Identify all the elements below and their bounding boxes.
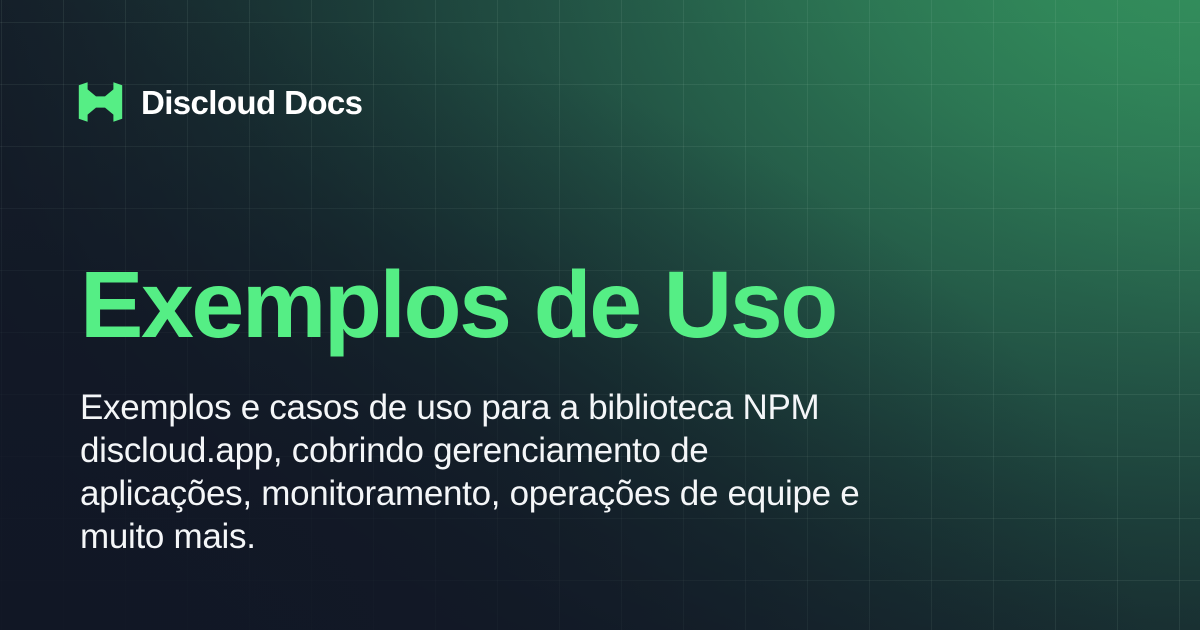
brand-name-label: Discloud Docs xyxy=(141,86,362,119)
page-description: Exemplos e casos de uso para a bibliotec… xyxy=(80,386,880,558)
og-social-card: Discloud Docs Exemplos de Uso Exemplos e… xyxy=(0,0,1200,630)
page-title: Exemplos de Uso xyxy=(80,258,836,353)
card-content: Discloud Docs Exemplos de Uso Exemplos e… xyxy=(0,0,1200,630)
discloud-bowtie-logo-icon xyxy=(78,82,123,122)
brand-lockup: Discloud Docs xyxy=(78,82,362,122)
